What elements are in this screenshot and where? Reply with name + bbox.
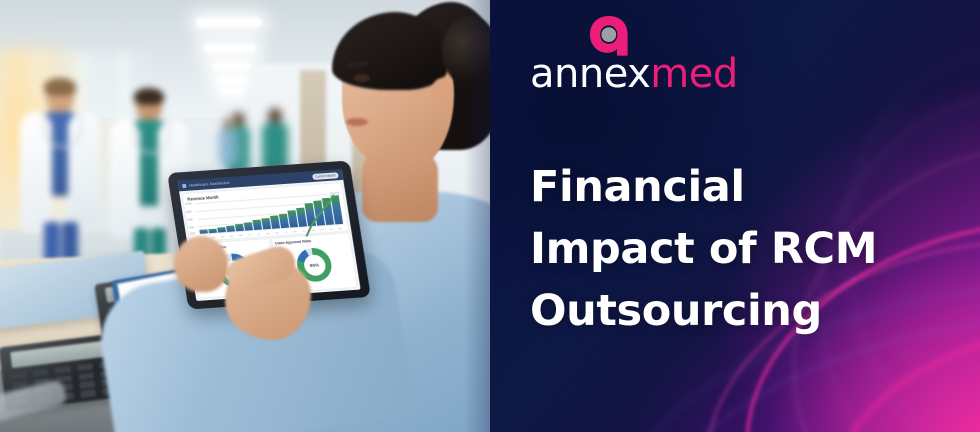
brand-logo[interactable]: annexmed: [530, 14, 750, 94]
headline-line-1: Financial: [530, 157, 950, 219]
headline-line-2: Impact of RCM: [530, 219, 950, 281]
wordmark-primary: annex: [530, 51, 650, 97]
hero-photo: Healthcare Dashboard Current Month Reven…: [0, 0, 490, 432]
doctor-foreground-left: [18, 82, 102, 282]
woman-hands: [266, 0, 490, 432]
dashboard-app-title: Healthcare Dashboard: [189, 180, 230, 187]
ceiling-light: [218, 78, 248, 84]
ceiling-light: [222, 89, 244, 94]
brand-wordmark: annexmed: [530, 54, 750, 94]
content-panel: annexmed Financial Impact of RCM Outsour…: [490, 0, 980, 432]
ceiling-light: [204, 44, 256, 52]
menu-icon[interactable]: [182, 183, 187, 187]
headline-line-3: Outsourcing: [530, 281, 950, 343]
promo-banner: Healthcare Dashboard Current Month Reven…: [0, 0, 980, 432]
wordmark-accent: med: [650, 51, 737, 97]
woman-hand-upper: [174, 236, 228, 292]
ceiling-light: [196, 18, 262, 27]
ceiling-light: [212, 63, 252, 70]
page-title: Financial Impact of RCM Outsourcing: [530, 157, 950, 343]
